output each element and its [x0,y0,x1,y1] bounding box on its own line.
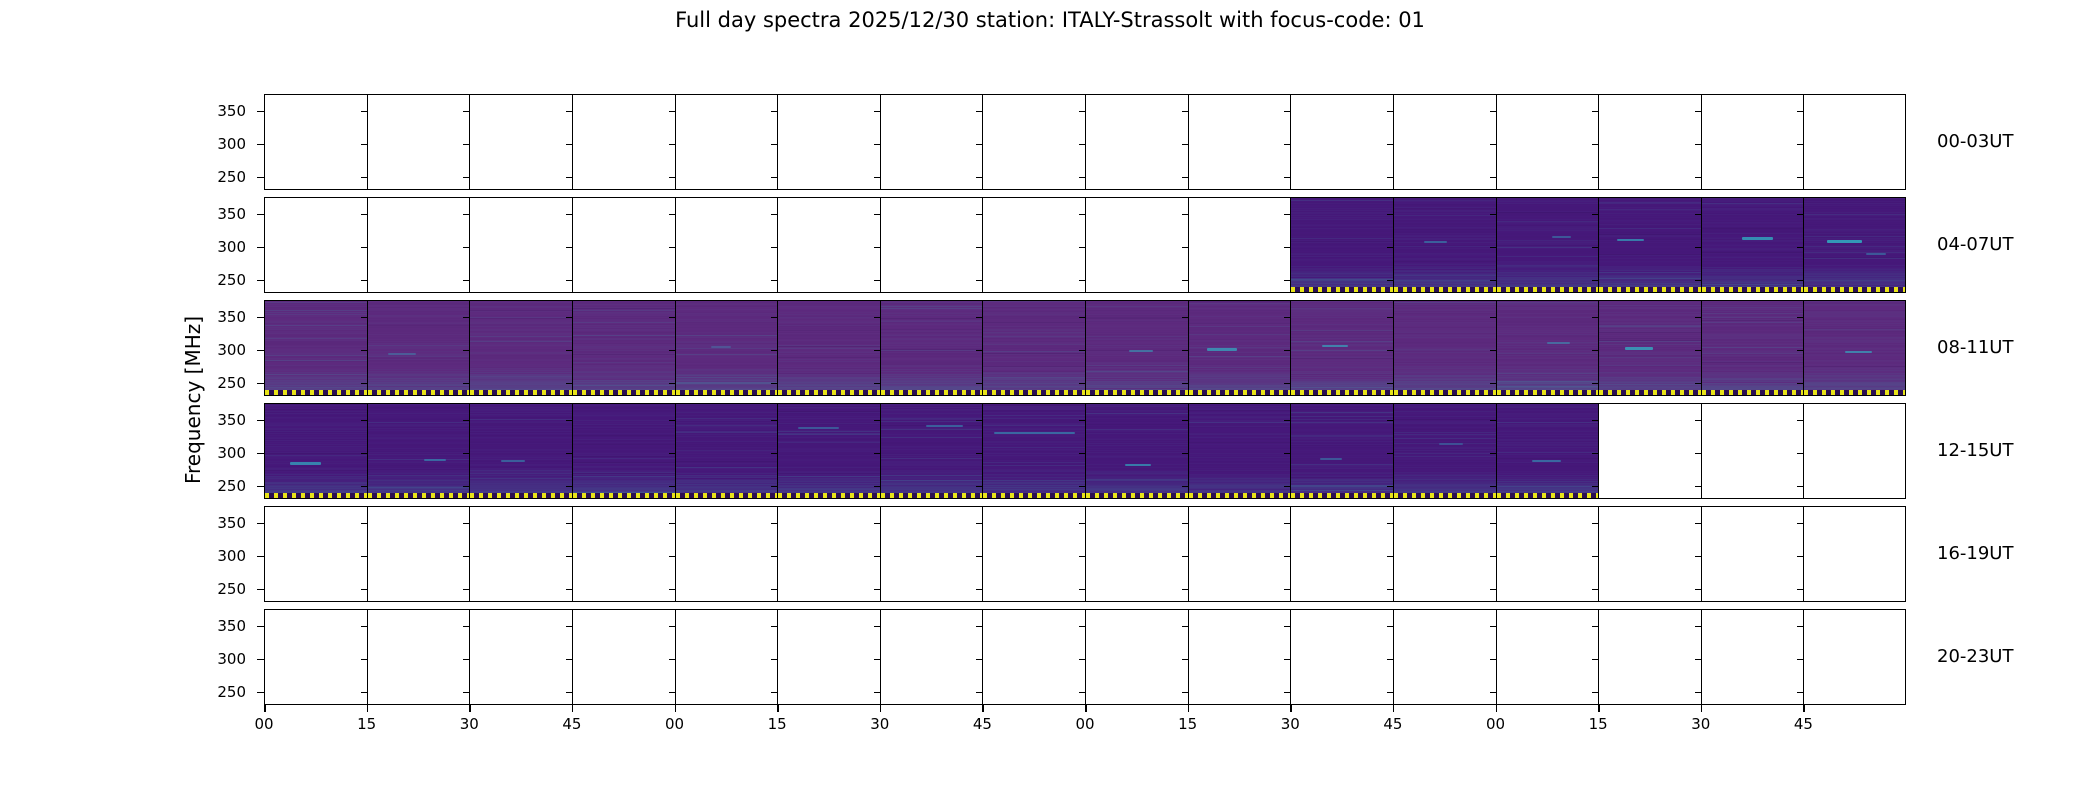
spectrogram-cell [368,404,471,498]
row-frame [264,197,1906,293]
y-tick-inner [1182,144,1188,146]
y-tick-inner [1284,486,1290,488]
y-tick-inner [1284,556,1290,558]
y-tick-inner [1387,486,1393,488]
time-marker-strip [676,390,778,395]
y-tick-inner [874,626,880,628]
spectrogram-tile [573,404,675,498]
spectrogram-cell [1497,95,1600,189]
spectrogram-cell [1394,507,1497,601]
spectrogram-cell [265,301,368,395]
y-tick-inner [874,214,880,216]
y-tick-inner [976,556,982,558]
row-frame [264,300,1906,396]
spectrogram-cell [1497,610,1600,704]
y-tick [257,626,264,628]
spectrogram-cell [1086,95,1189,189]
spectrogram-cell [470,404,573,498]
y-tick-inner [1284,383,1290,385]
y-tick-inner [361,692,367,694]
x-tick [675,705,677,712]
y-tick-inner [361,453,367,455]
y-tick-inner [874,486,880,488]
y-tick-inner [566,383,572,385]
x-tick-label: 45 [1373,715,1413,733]
spectrogram-tile [573,301,675,395]
y-tick-inner [771,626,777,628]
y-tick-inner [1695,214,1701,216]
time-marker-strip [1497,287,1599,292]
spectrogram-cell [1189,95,1292,189]
spectrogram-cell [573,301,676,395]
spectrogram-tile [1291,198,1393,292]
row-label: 12-15UT [1937,440,2013,461]
y-tick-label: 300 [186,135,246,153]
y-tick-inner [1797,556,1803,558]
x-tick [880,705,882,712]
spectrogram-cell [1497,507,1600,601]
spectrogram-cell [983,198,1086,292]
spectrogram-cell [1804,95,1906,189]
y-tick-inner [361,214,367,216]
y-tick-inner [976,350,982,352]
time-marker-strip [1189,493,1291,498]
time-marker-strip [1086,390,1188,395]
spectrogram-cell [1599,507,1702,601]
y-tick-inner [1182,420,1188,422]
spectrogram-tile [1086,301,1188,395]
y-tick-inner [1182,177,1188,179]
y-tick-inner [1695,247,1701,249]
spectrogram-cell [470,610,573,704]
spectrogram-cell [368,301,471,395]
y-tick-inner [566,144,572,146]
y-tick-inner [1284,317,1290,319]
spectrogram-cell [470,95,573,189]
x-tick-label: 15 [347,715,387,733]
y-tick-inner [874,144,880,146]
spectrogram-cell [1086,198,1189,292]
spectrogram-cell [470,507,573,601]
spectrogram-cell [881,404,984,498]
spectrogram-tile [1804,198,1906,292]
y-tick-inner [1182,111,1188,113]
y-tick [257,556,264,558]
y-tick-inner [771,692,777,694]
y-tick-inner [566,589,572,591]
y-tick-inner [669,280,675,282]
spectrogram-cell [265,198,368,292]
y-tick-inner [1695,280,1701,282]
x-tick [1496,705,1498,712]
y-tick-inner [463,350,469,352]
spectrogram-cell [778,95,881,189]
row-label: 16-19UT [1937,543,2013,564]
spectrogram-cell [1702,301,1805,395]
y-tick-inner [1797,317,1803,319]
spectrogram-cell [1189,507,1292,601]
x-tick-label: 00 [244,715,284,733]
spectrogram-cell [1497,198,1600,292]
y-tick-inner [1387,556,1393,558]
radio-burst [1742,237,1772,240]
y-tick-inner [1490,214,1496,216]
y-tick-inner [463,523,469,525]
spectrogram-tile [881,301,983,395]
time-marker-strip [265,390,367,395]
y-tick-inner [1182,247,1188,249]
radio-burst [388,353,416,355]
spectrogram-cell [1497,301,1600,395]
y-tick-inner [1079,350,1085,352]
y-tick [257,280,264,282]
y-tick-inner [1490,486,1496,488]
y-tick-inner [1490,556,1496,558]
y-tick-inner [1182,692,1188,694]
y-tick-inner [1695,486,1701,488]
spectrogram-tile [1394,301,1496,395]
spectrogram-cell [983,610,1086,704]
y-tick-inner [1592,453,1598,455]
spectrogram-tile [1291,301,1393,395]
y-tick-inner [361,177,367,179]
spectrogram-cell [1702,507,1805,601]
y-tick-inner [1592,317,1598,319]
y-tick-inner [976,177,982,179]
y-tick-inner [669,659,675,661]
y-tick-inner [1079,383,1085,385]
spectrogram-cell [573,198,676,292]
spectrogram-cell [881,301,984,395]
y-tick-label: 300 [186,650,246,668]
spectrogram-cell [983,301,1086,395]
spectrogram-tile [1394,404,1496,498]
y-tick-inner [1387,247,1393,249]
y-tick-inner [1797,280,1803,282]
spectrogram-cell [778,404,881,498]
y-tick-inner [1695,589,1701,591]
x-tick [469,705,471,712]
y-tick-inner [1387,177,1393,179]
y-tick-inner [463,692,469,694]
spectrogram-tile [265,404,367,498]
y-tick-inner [1797,659,1803,661]
y-tick-inner [874,383,880,385]
y-tick-inner [1695,453,1701,455]
y-tick-inner [1182,383,1188,385]
y-tick [257,214,264,216]
y-tick [257,177,264,179]
time-marker-strip [265,493,367,498]
spectrogram-cell [881,507,984,601]
y-tick-inner [1592,177,1598,179]
spectrogram-row [264,609,1906,705]
y-tick-inner [976,626,982,628]
y-tick-inner [1592,383,1598,385]
radio-burst [711,346,731,348]
spectrogram-cell [1804,507,1906,601]
spectrogram-tile [265,301,367,395]
x-tick [777,705,779,712]
spectrogram-cell [778,301,881,395]
y-tick-inner [1695,177,1701,179]
spectrogram-cell [1497,404,1600,498]
y-tick-inner [1797,486,1803,488]
spectrogram-cell [1189,610,1292,704]
spectrogram-cell [1394,198,1497,292]
y-tick-inner [1284,280,1290,282]
spectrogram-cell [1086,610,1189,704]
spectrogram-cell [1394,404,1497,498]
spectrogram-cell [368,507,471,601]
y-tick-inner [463,247,469,249]
y-tick-inner [1079,453,1085,455]
radio-burst [1827,240,1862,243]
spectrogram-cell [1702,95,1805,189]
y-tick-inner [874,523,880,525]
y-tick-inner [874,177,880,179]
y-tick-inner [463,144,469,146]
y-tick-inner [1182,280,1188,282]
y-tick-inner [771,280,777,282]
time-marker-strip [1189,390,1291,395]
y-tick-inner [1490,317,1496,319]
x-tick [1701,705,1703,712]
y-tick-inner [463,317,469,319]
y-tick-inner [361,247,367,249]
spectrogram-tile [1189,404,1291,498]
y-tick [257,692,264,694]
spectrogram-cell [265,507,368,601]
radio-burst [1625,347,1653,350]
time-marker-strip [573,493,675,498]
spectrogram-cell [1804,404,1906,498]
y-tick-inner [1797,144,1803,146]
y-tick-inner [771,350,777,352]
y-tick-label: 300 [186,341,246,359]
x-tick-label: 00 [1476,715,1516,733]
spectrogram-cell [1599,95,1702,189]
x-tick-label: 30 [449,715,489,733]
y-tick-inner [771,486,777,488]
y-tick-inner [1592,626,1598,628]
y-tick-inner [771,317,777,319]
y-tick-inner [976,589,982,591]
y-tick-inner [1695,144,1701,146]
spectrogram-cell [1086,301,1189,395]
spectrogram-cell [470,301,573,395]
y-tick [257,247,264,249]
y-tick-inner [361,383,367,385]
x-tick [1188,705,1190,712]
y-tick-inner [771,556,777,558]
time-marker-strip [1702,287,1804,292]
spectrogram-cell [1291,507,1394,601]
x-tick-label: 00 [1065,715,1105,733]
y-tick-inner [1695,383,1701,385]
spectrogram-row [264,94,1906,190]
y-tick-inner [874,659,880,661]
y-tick-inner [669,453,675,455]
y-tick-inner [976,317,982,319]
y-tick-inner [361,486,367,488]
y-tick-inner [463,659,469,661]
y-tick-inner [566,177,572,179]
y-tick [257,659,264,661]
y-tick-inner [1592,692,1598,694]
spectrogram-tile [1702,301,1804,395]
spectrogram-cell [676,198,779,292]
y-tick-inner [771,420,777,422]
spectrogram-cell [265,404,368,498]
y-tick [257,486,264,488]
spectrogram-cell [1189,198,1292,292]
y-tick [257,523,264,525]
y-tick-inner [771,177,777,179]
y-tick-inner [1182,214,1188,216]
radio-burst [290,462,320,465]
y-tick-inner [669,626,675,628]
time-marker-strip [470,390,572,395]
y-tick-inner [976,280,982,282]
y-tick-inner [361,589,367,591]
time-marker-strip [1394,287,1496,292]
y-tick-inner [1387,659,1393,661]
spectrogram-tile [881,404,983,498]
y-tick-inner [1182,556,1188,558]
x-tick-label: 00 [655,715,695,733]
y-tick-inner [1592,556,1598,558]
spectrogram-cell [676,95,779,189]
y-tick-inner [1490,692,1496,694]
y-tick-inner [463,280,469,282]
radio-burst [926,425,963,427]
spectrogram-cell [265,95,368,189]
y-tick-inner [1284,144,1290,146]
y-tick-inner [976,486,982,488]
y-tick-inner [1797,350,1803,352]
row-label: 08-11UT [1937,337,2013,358]
y-tick-inner [1387,383,1393,385]
y-tick-inner [1797,420,1803,422]
y-tick-inner [463,453,469,455]
spectrogram-cell [1291,610,1394,704]
spectrogram-tile [778,404,880,498]
y-tick-inner [566,692,572,694]
y-tick-inner [1284,214,1290,216]
y-tick-inner [1079,247,1085,249]
y-tick-inner [1387,144,1393,146]
y-tick-inner [874,280,880,282]
y-tick-inner [976,214,982,216]
spectrogram-cell [1702,610,1805,704]
y-tick-inner [669,214,675,216]
x-tick [1803,705,1805,712]
spectrogram-cell [1394,301,1497,395]
spectrogram-cell [1086,404,1189,498]
y-tick-inner [771,453,777,455]
y-tick-inner [976,692,982,694]
y-tick-inner [1797,523,1803,525]
time-marker-strip [778,390,880,395]
y-tick-inner [1797,247,1803,249]
y-tick-inner [874,453,880,455]
spectrogram-cell [881,95,984,189]
y-tick-inner [1695,420,1701,422]
spectrogram-tile [470,404,572,498]
y-tick-inner [771,383,777,385]
y-tick-inner [566,486,572,488]
y-tick-inner [1592,523,1598,525]
time-marker-strip [881,390,983,395]
y-tick-inner [1490,247,1496,249]
spectrogram-tile [368,301,470,395]
y-tick-label: 350 [186,411,246,429]
spectrogram-tile [1497,301,1599,395]
y-tick-inner [1284,626,1290,628]
y-tick-inner [669,144,675,146]
x-tick [1290,705,1292,712]
y-tick-label: 300 [186,444,246,462]
y-tick-inner [1695,692,1701,694]
y-tick-inner [874,111,880,113]
y-tick-label: 250 [186,683,246,701]
y-tick-inner [1490,453,1496,455]
y-tick-inner [1182,626,1188,628]
spectrogram-cell [1599,610,1702,704]
y-tick-inner [1284,111,1290,113]
y-tick-inner [976,523,982,525]
y-tick-inner [1592,144,1598,146]
y-tick-inner [976,453,982,455]
y-tick-label: 350 [186,514,246,532]
y-tick-inner [1182,589,1188,591]
x-tick-label: 45 [962,715,1002,733]
spectrogram-row [264,300,1906,396]
x-tick-label: 30 [860,715,900,733]
y-tick-inner [1079,589,1085,591]
y-tick-inner [669,177,675,179]
time-marker-strip [1599,390,1701,395]
x-tick [367,705,369,712]
spectrogram-tile [983,301,1085,395]
y-tick-inner [1079,659,1085,661]
y-tick-inner [566,247,572,249]
row-frame [264,94,1906,190]
time-marker-strip [1086,493,1188,498]
time-marker-strip [1394,493,1496,498]
y-tick-inner [1387,626,1393,628]
radio-burst [1322,345,1348,347]
time-marker-strip [1804,390,1906,395]
time-marker-strip [1394,390,1496,395]
y-tick-inner [1490,420,1496,422]
spectrogram-tile [676,301,778,395]
y-tick-label: 250 [186,271,246,289]
row-frame [264,609,1906,705]
time-marker-strip [983,493,1085,498]
y-tick-inner [361,317,367,319]
y-tick-inner [1079,626,1085,628]
y-tick-label: 250 [186,580,246,598]
y-tick-inner [874,350,880,352]
figure-title: Full day spectra 2025/12/30 station: ITA… [0,8,2100,32]
y-tick-inner [1592,659,1598,661]
spectrogram-tile [1702,198,1804,292]
spectrogram-cell [881,610,984,704]
y-tick-inner [1695,317,1701,319]
y-tick-inner [463,214,469,216]
